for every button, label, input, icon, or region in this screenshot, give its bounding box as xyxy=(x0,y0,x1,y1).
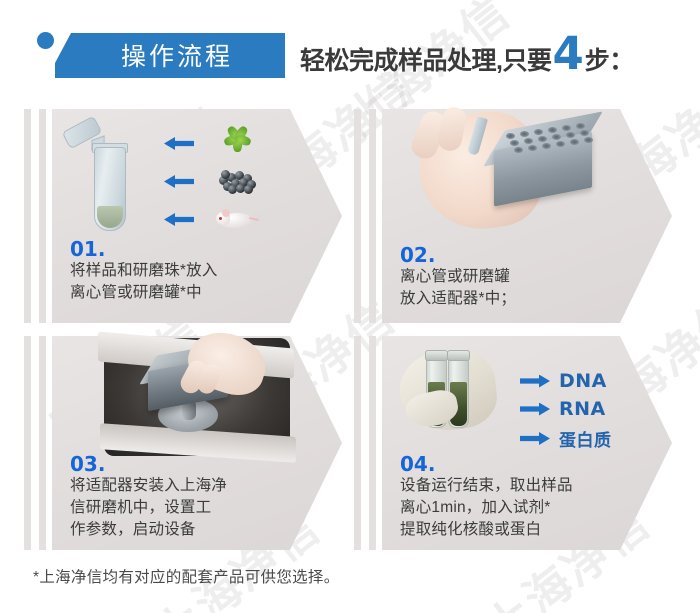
tube-liquid-icon xyxy=(97,206,123,228)
step-description: 将样品和研磨珠*放入 离心管或研磨罐*中 xyxy=(70,260,332,304)
gloved-hand-with-tubes-photo xyxy=(396,340,516,448)
step-description: 将适配器安装入上海净 信研磨机中，设置工 作参数，启动设备 xyxy=(70,475,332,541)
step-description-line: 放入适配器*中； xyxy=(400,288,662,310)
flow-arrow-right-icon xyxy=(520,432,550,445)
step-number: 03. xyxy=(70,454,332,475)
centrifuge-tube-icon xyxy=(66,119,152,239)
footer-note: *上海净信均有对应的配套产品可供您选择。 xyxy=(33,565,340,587)
step-caption: 02. 离心管或研磨罐 放入适配器*中； xyxy=(400,245,662,310)
flow-arrow-left-icon xyxy=(164,137,194,150)
step-description-line: 将样品和研磨珠*放入 xyxy=(70,260,332,282)
section-title-label: 操作流程 xyxy=(107,37,233,74)
step-description-line: 信研磨机中，设置工 xyxy=(70,497,332,519)
step-panel-content: 03. 将适配器安装入上海净 信研磨机中，设置工 作参数，启动设备 xyxy=(52,336,342,550)
headline: 轻松完成样品处理,只要 4 步： xyxy=(300,36,634,84)
panel-accent-bar xyxy=(39,336,46,550)
step-caption: 04. 设备运行结束，取出样品 离心1min，加入试剂* 提取纯化核酸或蛋白 xyxy=(400,454,662,541)
step-caption: 03. 将适配器安装入上海净 信研磨机中，设置工 作参数，启动设备 xyxy=(70,454,332,541)
output-label: 蛋白质 xyxy=(559,426,612,451)
page-header: 操作流程 轻松完成样品处理,只要 4 步： xyxy=(0,0,700,100)
step-number: 02. xyxy=(400,245,662,266)
step-description-line: 设备运行结束，取出样品 xyxy=(400,475,662,497)
step-description-line: 离心1min，加入试剂* xyxy=(400,497,662,519)
headline-prefix: 轻松完成样品处理,只要 xyxy=(300,41,551,77)
step-description-line: 离心管或研磨罐*中 xyxy=(70,282,332,304)
step-description-line: 提取纯化核酸或蛋白 xyxy=(400,519,662,541)
step-number: 01. xyxy=(70,239,332,260)
step-caption: 01. 将样品和研磨珠*放入 离心管或研磨罐*中 xyxy=(70,239,332,304)
panel-accent-bar xyxy=(369,336,376,550)
headline-step-count: 4 xyxy=(551,36,584,72)
step-number: 04. xyxy=(400,454,662,475)
step-description: 离心管或研磨罐 放入适配器*中； xyxy=(400,266,662,310)
output-row-rna: RNA xyxy=(520,398,606,420)
flow-arrow-right-icon xyxy=(520,403,550,416)
circle-dot-icon xyxy=(37,32,54,49)
step-panel-content: DNA RNA 蛋白质 04. 设备运行结束，取出样品 离心1min，加入试剂*… xyxy=(382,336,672,550)
step-panel-04: DNA RNA 蛋白质 04. 设备运行结束，取出样品 离心1min，加入试剂*… xyxy=(352,332,692,554)
panel-accent-bar xyxy=(24,336,31,550)
output-label: RNA xyxy=(559,398,606,420)
hand-with-adapter-photo xyxy=(410,109,640,234)
headline-suffix: 步： xyxy=(585,41,634,77)
mouse-ear xyxy=(222,209,230,217)
step-panel-02: 02. 离心管或研磨罐 放入适配器*中； xyxy=(352,105,692,327)
mouse-eye xyxy=(219,217,222,220)
panel-accent-bar xyxy=(354,109,361,323)
mouse-icon xyxy=(216,205,258,231)
step-panel-03: 03. 将适配器安装入上海净 信研磨机中，设置工 作参数，启动设备 xyxy=(22,332,362,554)
steps-grid: 01. 将样品和研磨珠*放入 离心管或研磨罐*中 xyxy=(0,100,700,555)
panel-accent-bar xyxy=(354,336,361,550)
step-panel-content: 01. 将样品和研磨珠*放入 离心管或研磨罐*中 xyxy=(52,109,342,323)
grinder-machine-photo xyxy=(52,336,322,458)
flow-arrow-left-icon xyxy=(164,175,194,188)
panel-accent-bar xyxy=(39,109,46,323)
flow-arrow-left-icon xyxy=(164,213,194,226)
step-description-line: 作参数，启动设备 xyxy=(70,519,332,541)
flow-arrow-right-icon xyxy=(520,375,550,388)
section-title-ribbon: 操作流程 xyxy=(55,33,285,78)
output-label: DNA xyxy=(559,370,607,392)
panel-accent-bar xyxy=(24,109,31,323)
step-panel-01: 01. 将样品和研磨珠*放入 离心管或研磨罐*中 xyxy=(22,105,362,327)
step-description-line: 离心管或研磨罐 xyxy=(400,266,662,288)
tube-cap-icon xyxy=(425,350,448,361)
output-row-dna: DNA xyxy=(520,370,607,392)
step-panel-content: 02. 离心管或研磨罐 放入适配器*中； xyxy=(382,109,672,323)
step-description-line: 将适配器安装入上海净 xyxy=(70,475,332,497)
output-row-protein: 蛋白质 xyxy=(520,426,612,451)
panel-accent-bar xyxy=(369,109,376,323)
grinding-beads-icon xyxy=(217,167,257,193)
tube-cap-icon xyxy=(447,350,470,361)
step-description: 设备运行结束，取出样品 离心1min，加入试剂* 提取纯化核酸或蛋白 xyxy=(400,475,662,541)
leaf-icon xyxy=(220,125,254,155)
machine-interior xyxy=(104,338,290,456)
tube-body-icon xyxy=(94,147,126,231)
